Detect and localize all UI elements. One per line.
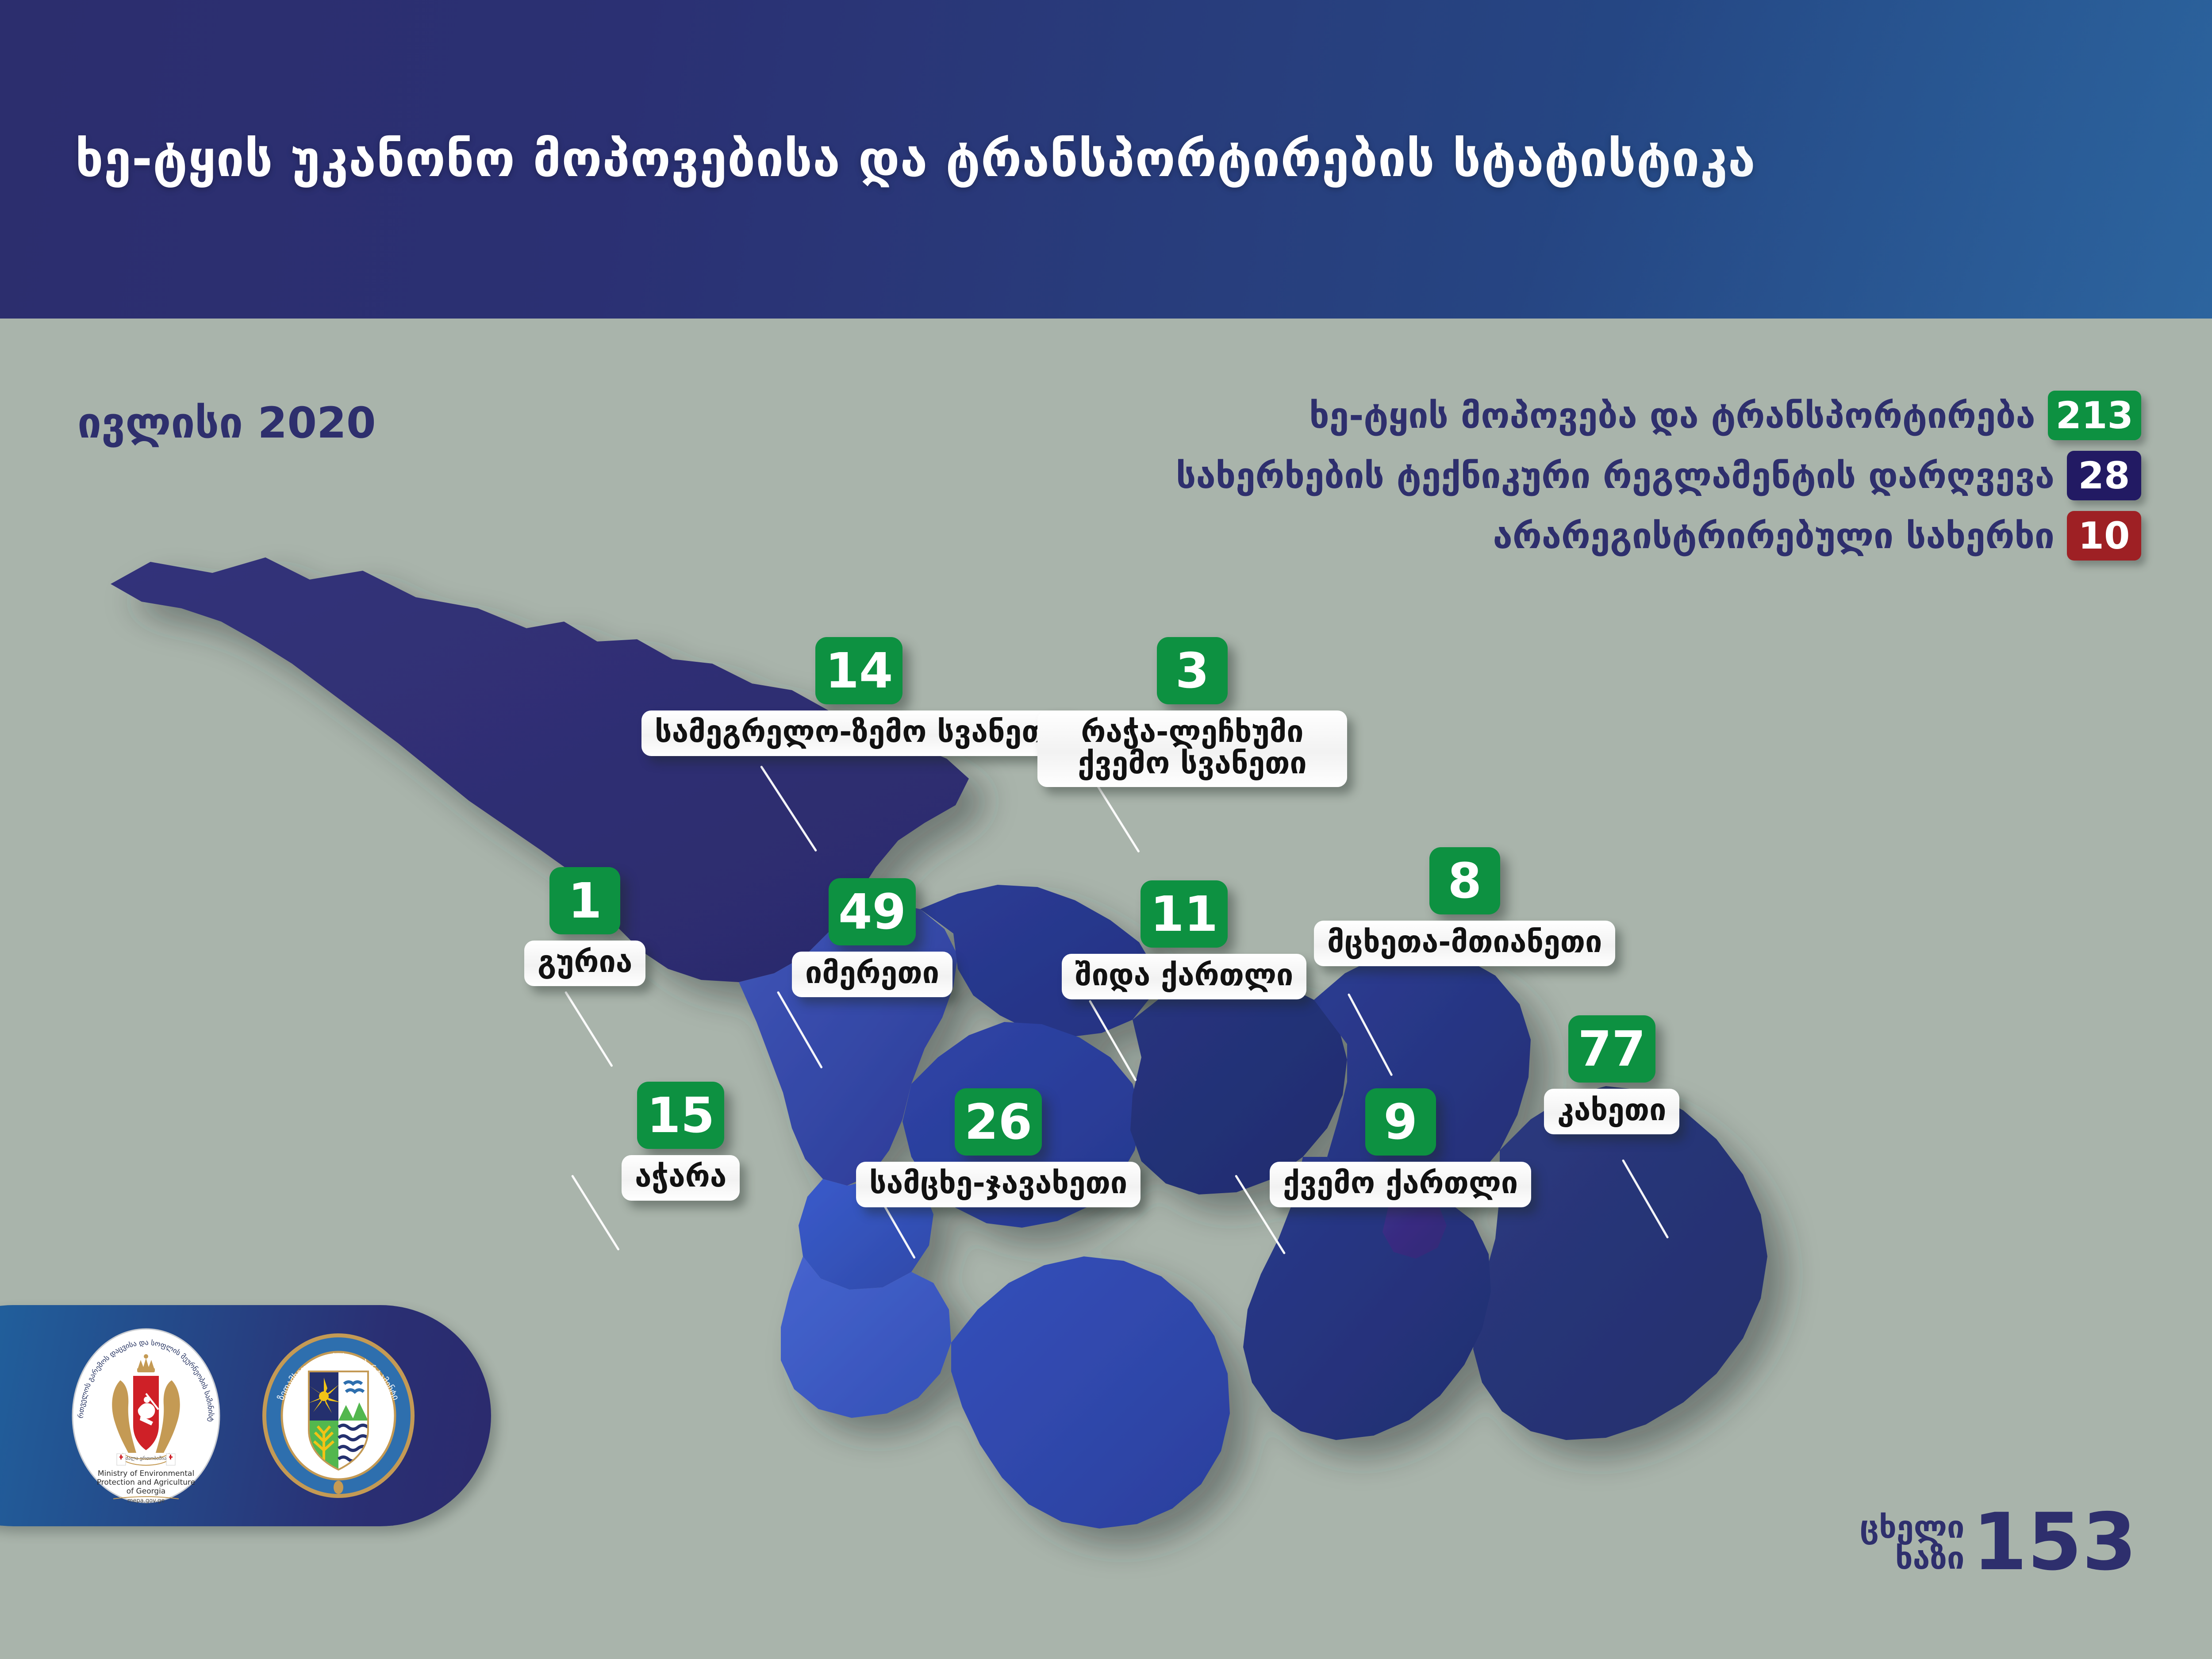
- marker-kakheti[interactable]: 77 კახეთი: [1544, 1015, 1679, 1134]
- marker-value: 49: [829, 878, 916, 945]
- marker-value: 26: [955, 1088, 1042, 1156]
- legend-label: სახერხების ტექნიკური რეგლამენტის დარღვევ…: [1176, 455, 2055, 496]
- marker-imereti[interactable]: 49 იმერეთი: [792, 878, 952, 997]
- logo-pill: საქართველოს გარემოს დაცვისა და სოფლის მე…: [0, 1305, 491, 1526]
- marker-value: 11: [1141, 880, 1228, 948]
- ministry-website: mepa.gov.ge: [127, 1498, 165, 1504]
- marker-value: 77: [1568, 1015, 1655, 1083]
- ministry-seal-icon: საქართველოს გარემოს დაცვისა და სოფლის მე…: [71, 1327, 221, 1504]
- legend-badge-navy: 28: [2067, 451, 2141, 500]
- hotline-line2: ხაზი: [1860, 1543, 1965, 1574]
- hotline-number: 153: [1972, 1508, 2137, 1577]
- marker-value: 14: [815, 637, 902, 704]
- ministry-en-line2: Protection and Agriculture: [97, 1478, 195, 1487]
- marker-samegrelo[interactable]: 14 სამეგრელო-ზემო სვანეთი: [641, 637, 1077, 756]
- marker-label: აჭარა: [622, 1155, 740, 1201]
- marker-mtskheta-mtianeti[interactable]: 8 მცხეთა-მთიანეთი: [1314, 847, 1615, 966]
- marker-adjara[interactable]: 15 აჭარა: [622, 1082, 740, 1201]
- marker-label: სამეგრელო-ზემო სვანეთი: [641, 710, 1077, 756]
- supervision-seal-icon: ზედამხედველობის დეპარტამენტი გარემოსდაცვ…: [261, 1332, 416, 1500]
- marker-kvemo-kartli[interactable]: 9 ქვემო ქართლი: [1270, 1088, 1531, 1207]
- hotline-line1: ცხელი: [1860, 1512, 1965, 1543]
- legend-row: სახერხების ტექნიკური რეგლამენტის დარღვევ…: [858, 449, 2141, 502]
- marker-value: 15: [637, 1082, 724, 1149]
- ministry-en-line1: Ministry of Environmental: [98, 1469, 194, 1478]
- page-title: ხე-ტყის უკანონო მოპოვებისა და ტრანსპორტი…: [75, 131, 1756, 188]
- marker-samtskhe-javakheti[interactable]: 26 სამცხე-ჯავახეთი: [856, 1088, 1141, 1207]
- supervision-logo: ზედამხედველობის დეპარტამენტი გარემოსდაცვ…: [261, 1332, 416, 1500]
- hotline: ცხელი ხაზი 153: [1860, 1508, 2137, 1577]
- legend-label: ხე-ტყის მოპოვება და ტრანსპორტირება: [1309, 395, 2035, 436]
- marker-value: 9: [1365, 1088, 1436, 1156]
- region-samtskhe-javakheti: [951, 1256, 1230, 1528]
- ministry-logo: საქართველოს გარემოს დაცვისა და სოფლის მე…: [71, 1327, 221, 1504]
- legend-badge-red: 10: [2067, 511, 2141, 561]
- svg-text:ძალა ერთობაშია: ძალა ერთობაშია: [126, 1455, 167, 1461]
- header-banner: ხე-ტყის უკანონო მოპოვებისა და ტრანსპორტი…: [0, 0, 2212, 319]
- marker-value: 8: [1429, 847, 1500, 914]
- ministry-en-line3: of Georgia: [127, 1487, 165, 1496]
- marker-label: მცხეთა-მთიანეთი: [1314, 921, 1615, 966]
- marker-value: 3: [1157, 637, 1228, 704]
- marker-racha-lechkhumi[interactable]: 3 რაჭა-ლეჩხუმი ქვემო სვანეთი: [1037, 637, 1347, 787]
- infographic-canvas: ხე-ტყის უკანონო მოპოვებისა და ტრანსპორტი…: [0, 0, 2212, 1659]
- marker-value: 1: [549, 867, 620, 934]
- legend-row: ხე-ტყის მოპოვება და ტრანსპორტირება 213: [858, 389, 2141, 442]
- marker-label: გურია: [524, 941, 645, 986]
- date-label: ივლისი 2020: [77, 398, 376, 448]
- marker-shida-kartli[interactable]: 11 შიდა ქართლი: [1062, 880, 1306, 999]
- hotline-label: ცხელი ხაზი: [1860, 1512, 1965, 1574]
- marker-label: სამცხე-ჯავახეთი: [856, 1162, 1141, 1207]
- marker-label: ქვემო ქართლი: [1270, 1162, 1531, 1207]
- marker-label: კახეთი: [1544, 1089, 1679, 1134]
- legend-badge-green: 213: [2048, 391, 2141, 440]
- marker-guria[interactable]: 1 გურია: [524, 867, 645, 986]
- marker-label: იმერეთი: [792, 952, 952, 997]
- marker-label: რაჭა-ლეჩხუმი ქვემო სვანეთი: [1037, 710, 1347, 787]
- marker-label: შიდა ქართლი: [1062, 954, 1306, 999]
